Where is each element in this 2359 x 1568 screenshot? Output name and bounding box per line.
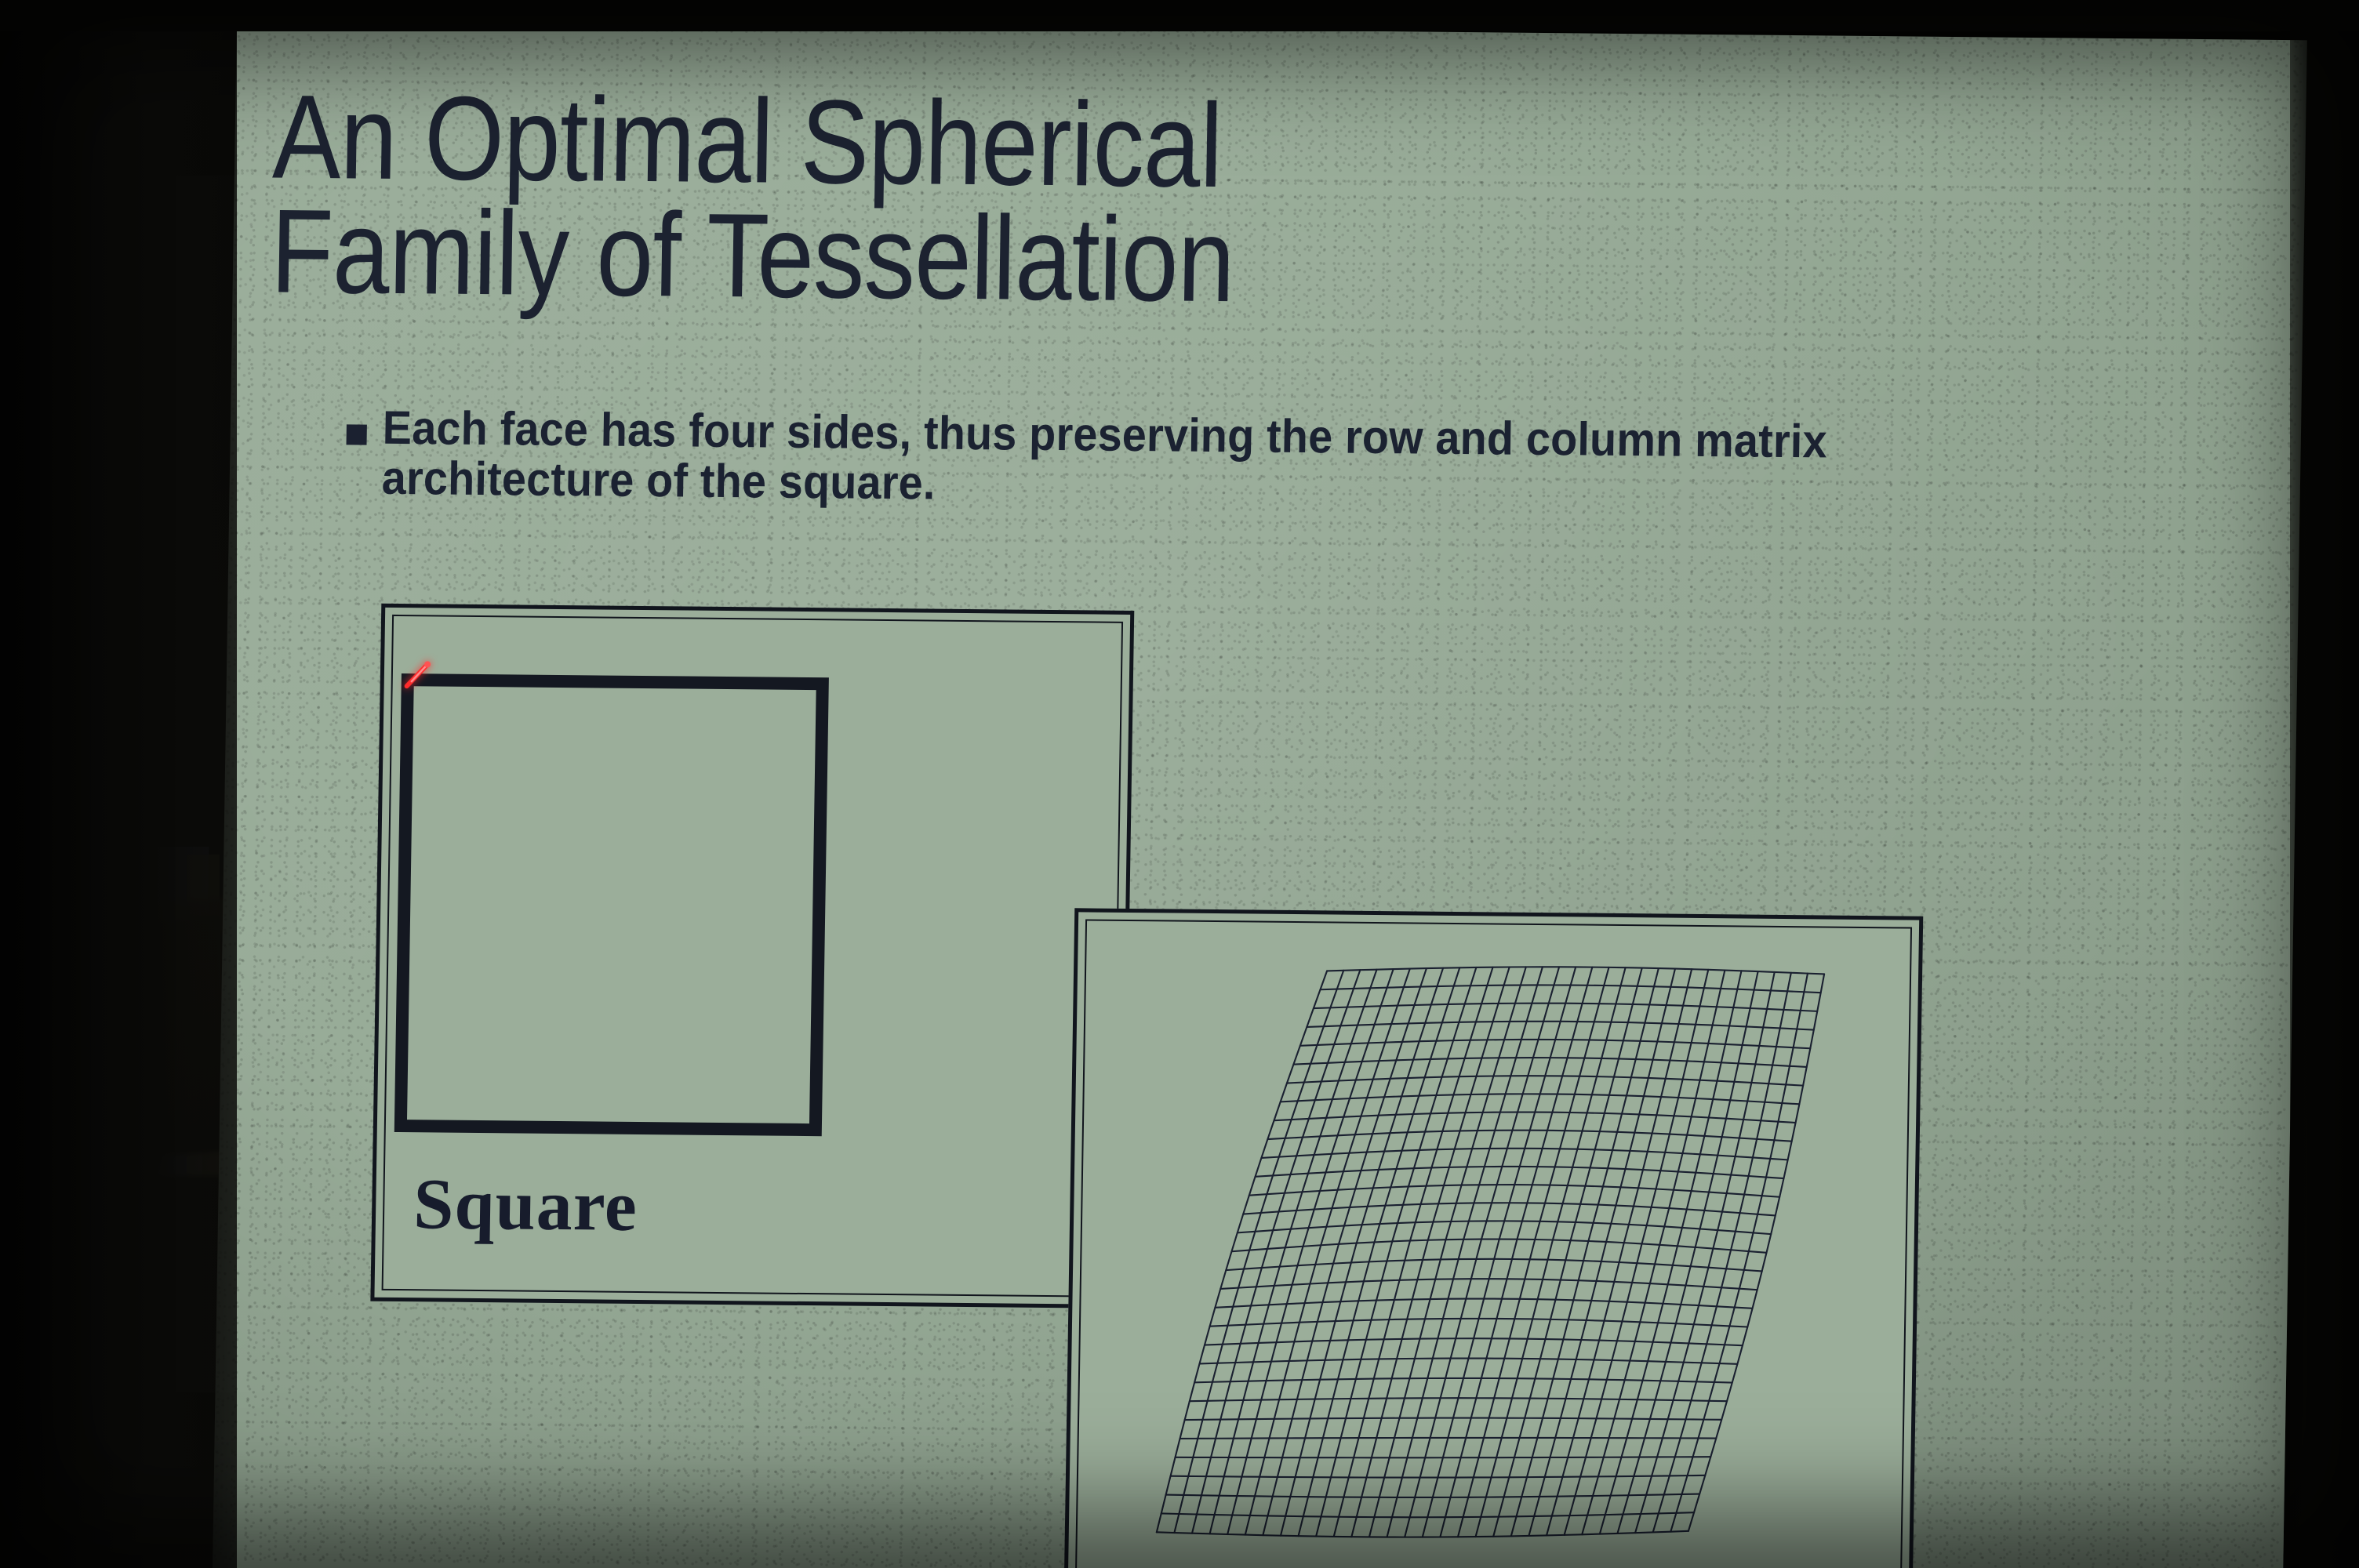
bullet-list: Each face has four sides, thus preservin… bbox=[216, 401, 2100, 519]
square-figure-panel: Square bbox=[370, 604, 1134, 1308]
tessellation-mesh bbox=[1068, 912, 1919, 1568]
laser-pointer-streak-icon bbox=[402, 659, 435, 692]
room-left-shadow bbox=[0, 0, 237, 1568]
tessellation-figure-panel bbox=[1064, 908, 1923, 1568]
bullet-item-text: Each face has four sides, thus preservin… bbox=[381, 403, 1929, 517]
square-outline-shape bbox=[394, 673, 829, 1136]
photograph-frame: An Optimal Spherical Family of Tessellat… bbox=[0, 0, 2359, 1568]
square-figure-caption: Square bbox=[413, 1167, 638, 1242]
slide-surface: An Optimal Spherical Family of Tessellat… bbox=[212, 20, 2306, 1568]
slide-title: An Optimal Spherical Family of Tessellat… bbox=[270, 80, 1623, 321]
room-right-shadow bbox=[2290, 0, 2359, 1568]
slide-title-line-2: Family of Tessellation bbox=[270, 194, 1620, 321]
room-top-shadow bbox=[0, 0, 2359, 31]
projection-area: An Optimal Spherical Family of Tessellat… bbox=[0, 0, 2359, 1568]
square-bullet-icon bbox=[347, 424, 367, 445]
